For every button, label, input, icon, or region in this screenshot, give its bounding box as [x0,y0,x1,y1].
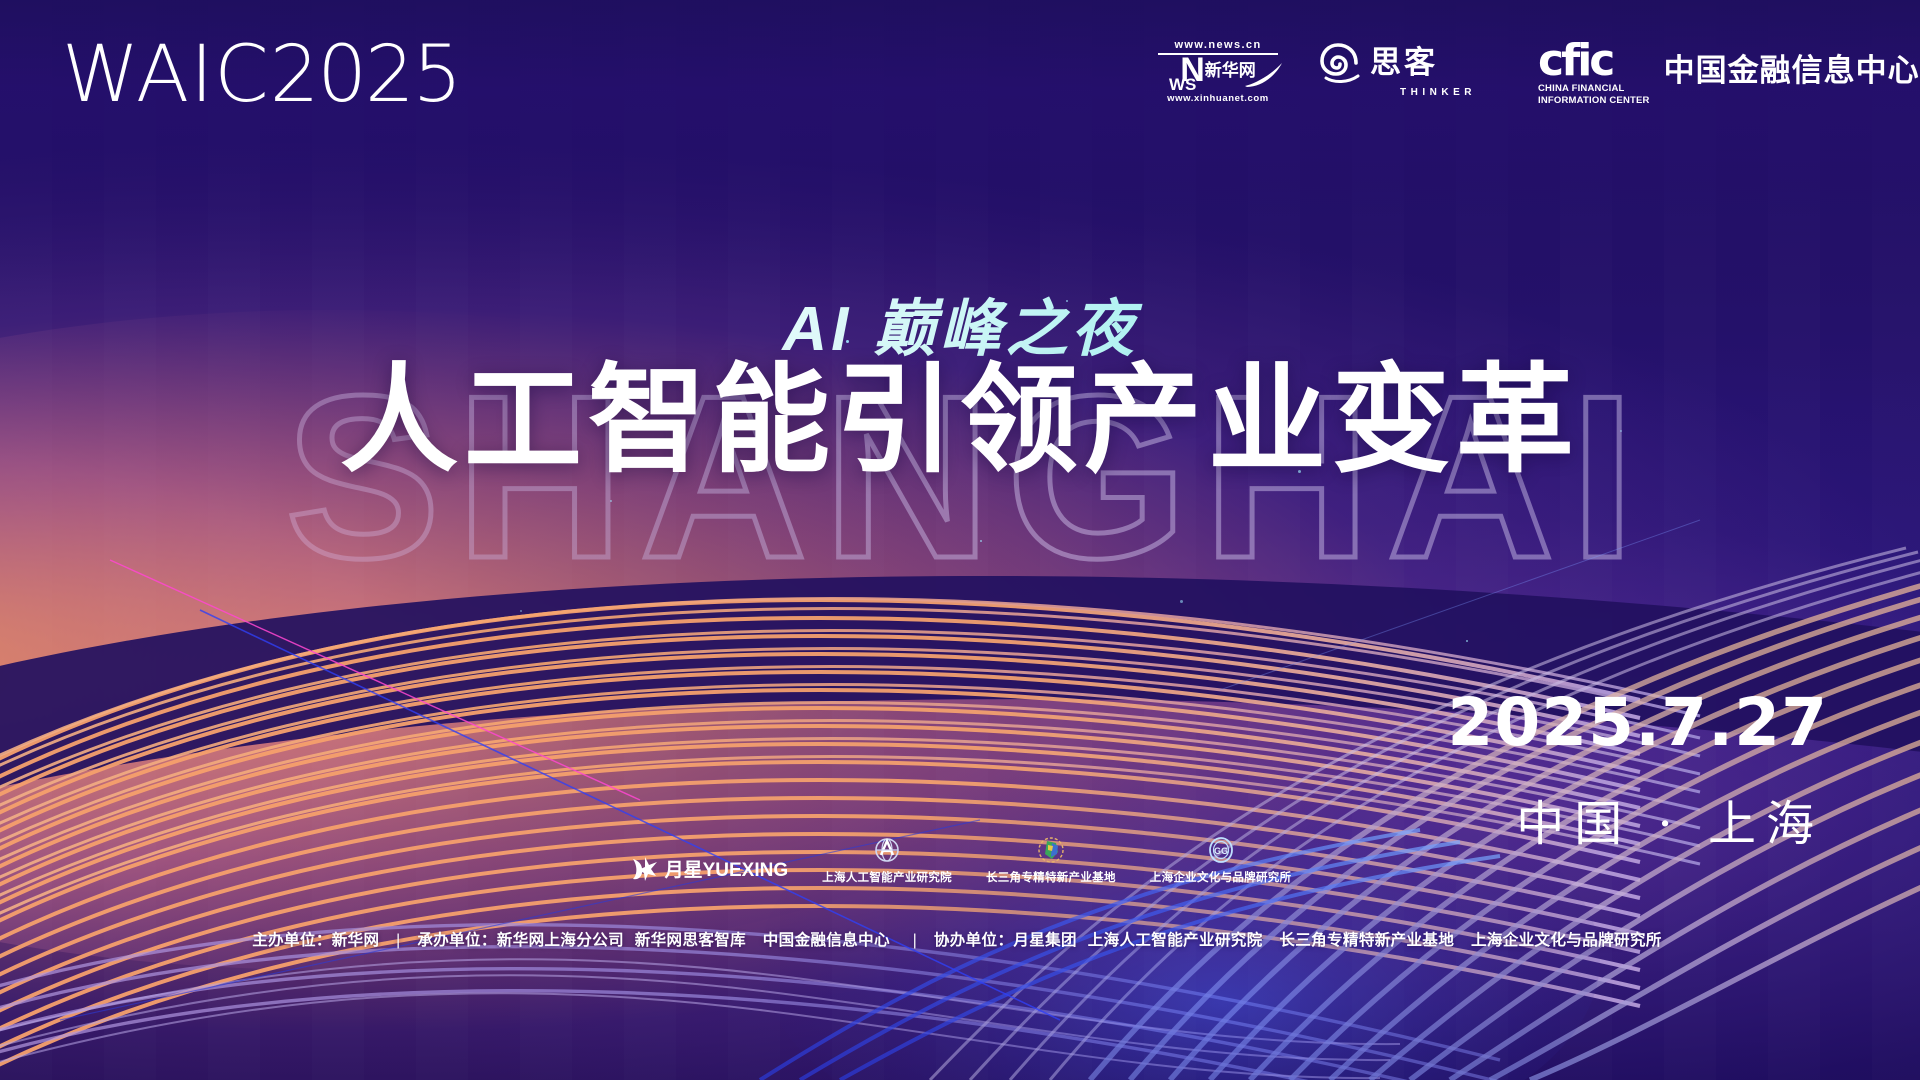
credit-organizer: 承办单位：新华网上海分公司 [417,932,624,949]
credit-coorganizer-2: 上海人工智能产业研究院 [1082,928,1269,950]
waic-year: 2025 [270,30,461,120]
event-headline: 人工智能引领产业变革 [0,358,1920,485]
thinker-cn-name: 思客 [1370,48,1438,79]
yangtze-delta-base-icon [1036,836,1066,866]
sponsor-brand-institute-label: 上海企业文化与品牌研究所 [1150,869,1292,885]
credit-organizer-3: 中国金融信息中心 [757,928,896,950]
credit-divider-2: | [901,932,929,950]
cfic-en-line1: CHINA FINANCIAL [1538,83,1650,94]
background-vertical-bands [0,0,1920,1080]
star-field [0,0,1920,1080]
sponsor-brand-institute[interactable]: GG 上海企业文化与品牌研究所 [1150,836,1292,885]
partner-logo-cfic[interactable]: cfic CHINA FINANCIAL INFORMATION CENTER … [1538,40,1920,107]
sponsor-ai-institute-label: 上海人工智能产业研究院 [822,869,952,885]
event-date: 2025.7.27 [1447,690,1828,756]
credit-organizer-2: 新华网思客智库 [629,928,752,950]
thinker-en-name: THINKER [1318,87,1478,98]
sponsor-yuexing[interactable]: 月星YUEXING [629,853,789,883]
partner-logo-xinhua[interactable]: www.news.cn N 新华网 WS www.xinhuanet.com [1158,40,1278,104]
xinhua-rule [1158,53,1278,55]
credit-coorganizer-4: 上海企业文化与品牌研究所 [1465,928,1668,950]
ai-institute-globe-icon [872,836,902,866]
wave-artwork [0,0,1920,1080]
header-bar: WAIC2025 www.news.cn N 新华网 WS www.xinhua… [0,0,1920,140]
credit-divider-1: | [384,932,412,950]
xinhua-swoosh-icon [1244,62,1284,88]
xinhua-url-top: www.news.cn [1158,40,1278,51]
cfic-wordmark: cfic [1538,40,1650,82]
cfic-en-line2: INFORMATION CENTER [1538,95,1650,106]
sponsor-yangtze-delta-label: 长三角专精特新产业基地 [986,869,1116,885]
sponsor-logo-strip: 月星YUEXING 上海人工智能产业研究院 长三角专精特新产业基地 [0,836,1920,885]
waic-logo: WAIC2025 [62,36,460,114]
cfic-cn-name: 中国金融信息中心 [1664,45,1920,90]
poster-canvas: SHANGHAI [0,0,1920,1080]
svg-text:GG: GG [1214,846,1228,856]
sponsor-yangtze-delta[interactable]: 长三角专精特新产业基地 [986,836,1116,885]
credit-coorganizer: 协办单位：月星集团 [934,932,1077,949]
cfic-mark: cfic CHINA FINANCIAL INFORMATION CENTER [1538,40,1650,107]
yuexing-star-icon [629,853,659,883]
xinhua-url-bottom: www.xinhuanet.com [1158,93,1278,104]
waic-brand: WAIC [62,30,270,120]
partner-logo-thinker[interactable]: 思客 THINKER [1318,42,1478,98]
brand-institute-seal-icon: GG [1206,836,1236,866]
sponsor-ai-institute[interactable]: 上海人工智能产业研究院 [822,836,952,885]
credit-coorganizer-3: 长三角专精特新产业基地 [1273,928,1460,950]
background-gradient [0,0,1920,1080]
sponsor-yuexing-label: 月星YUEXING [665,855,789,882]
credit-host: 主办单位：新华网 [252,932,379,949]
thinker-spiral-icon [1318,42,1362,84]
credits-line: 主办单位：新华网 | 承办单位：新华网上海分公司 新华网思客智库 中国金融信息中… [0,928,1920,950]
